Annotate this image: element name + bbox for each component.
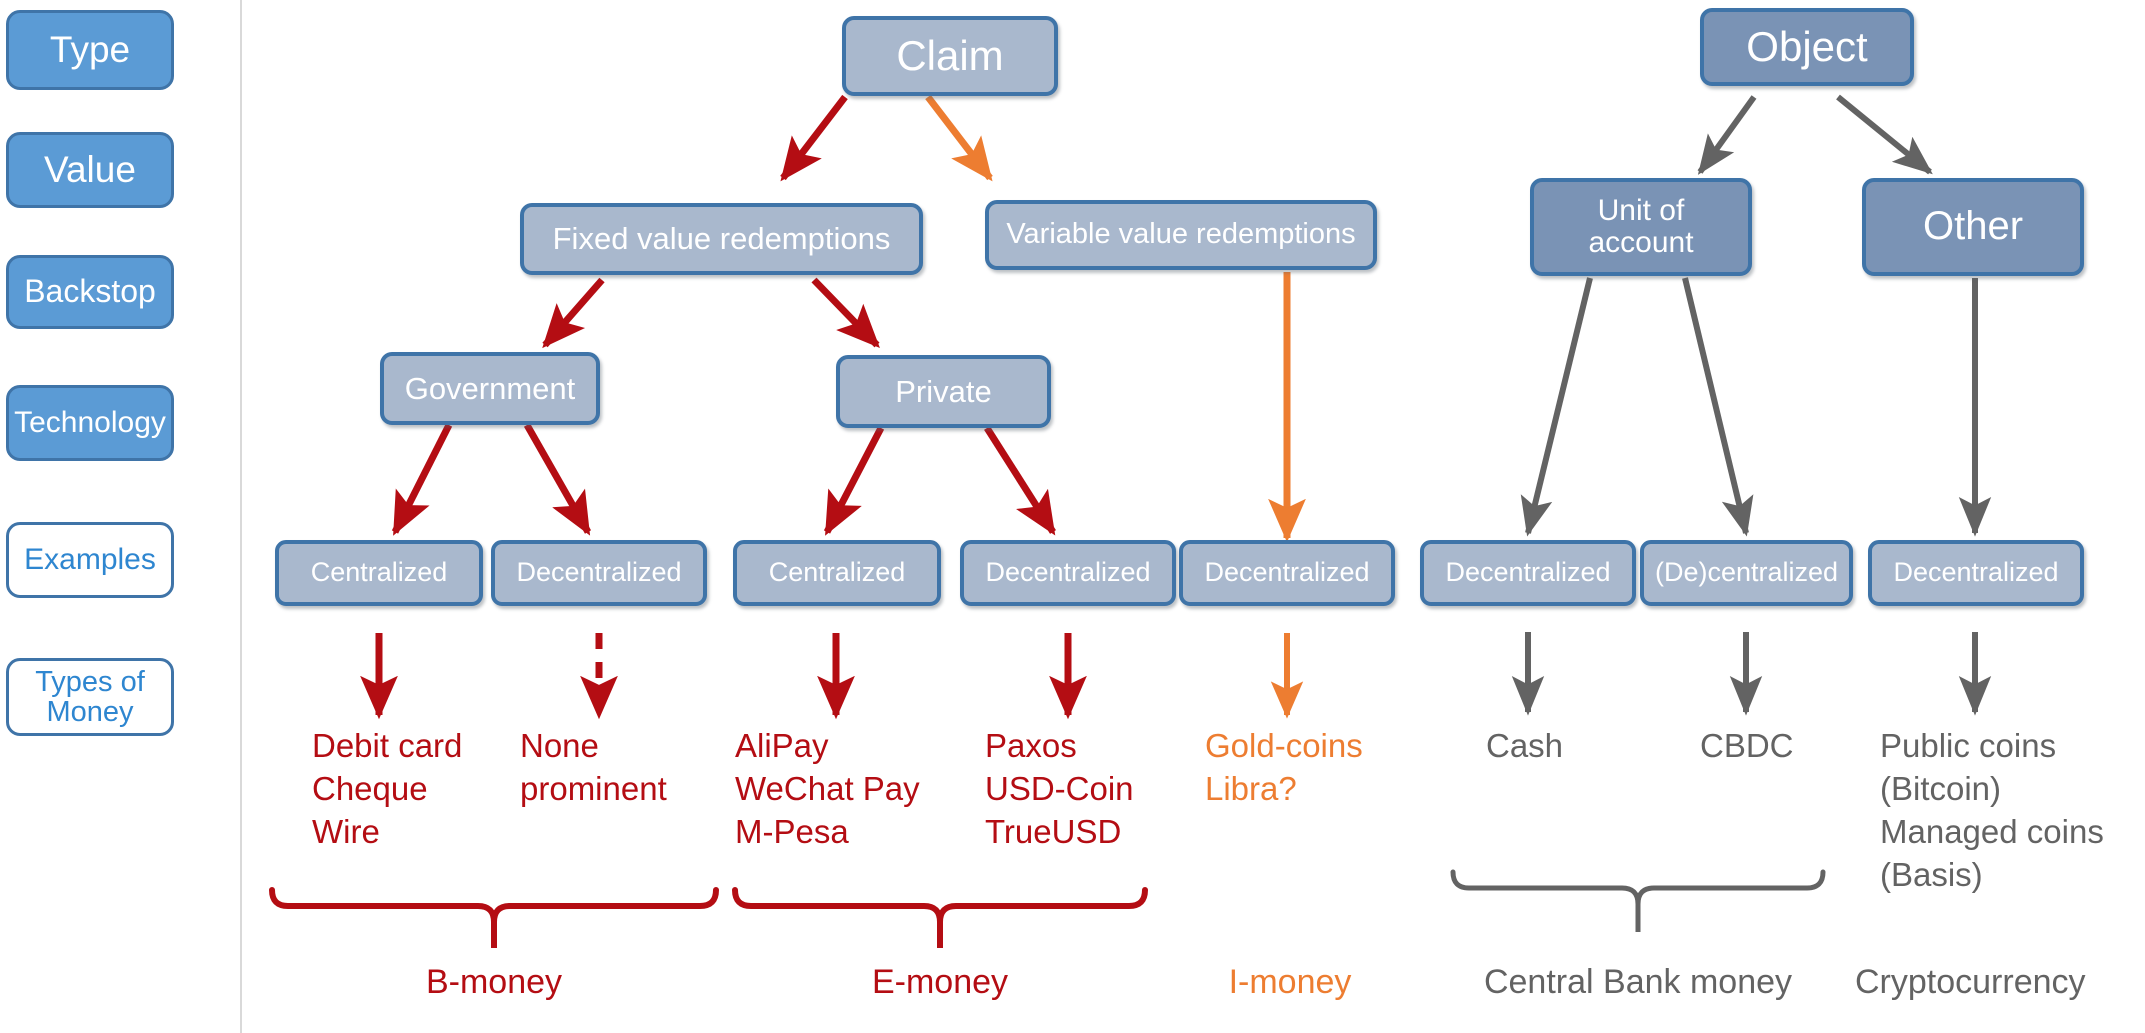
node-unit-of-account[interactable]: Unit of account [1530, 178, 1752, 276]
edge-private-to-decentralized [987, 428, 1053, 532]
examples-b-money-decentralized: None prominent [520, 725, 667, 811]
node-tech-decentralized-crypto[interactable]: Decentralized [1868, 540, 2084, 606]
examples-e-money-decentralized: Paxos USD-Coin TrueUSD [985, 725, 1134, 854]
money-type-e-money: E-money [855, 960, 1025, 1004]
node-government[interactable]: Government [380, 352, 600, 425]
money-type-cryptocurrency: Cryptocurrency [1855, 960, 2135, 1004]
edge-government-to-decentralized [527, 425, 588, 532]
edge-unit-to-decentralized [1528, 278, 1590, 533]
rail-item-backstop[interactable]: Backstop [6, 255, 174, 329]
money-type-central-bank-money: Central Bank money [1458, 960, 1818, 1004]
edge-government-to-centralized [395, 425, 449, 532]
node-tech-decentralized-paren-cbdc[interactable]: (De)centralized [1640, 540, 1853, 606]
brace-central-bank-money [1453, 872, 1823, 904]
node-object[interactable]: Object [1700, 8, 1914, 86]
node-tech-centralized-priv[interactable]: Centralized [733, 540, 941, 606]
node-other[interactable]: Other [1862, 178, 2084, 276]
rail-item-examples[interactable]: Examples [6, 522, 174, 598]
edge-claim-to-fixed [783, 97, 845, 178]
rail-item-value[interactable]: Value [6, 132, 174, 208]
examples-cryptocurrency: Public coins (Bitcoin) Managed coins (Ba… [1880, 725, 2104, 897]
edge-object-to-other [1838, 97, 1930, 172]
examples-cash: Cash [1486, 725, 1563, 768]
node-tech-decentralized-imoney[interactable]: Decentralized [1179, 540, 1395, 606]
examples-i-money: Gold-coins Libra? [1205, 725, 1363, 811]
edge-fixed-to-private [814, 280, 877, 345]
node-fixed-value-redemptions[interactable]: Fixed value redemptions [520, 203, 923, 275]
brace-b-money [272, 890, 716, 922]
edge-object-to-unit-of-account [1700, 97, 1754, 172]
connector-layer [0, 0, 2145, 1033]
rail-item-technology[interactable]: Technology [6, 385, 174, 461]
node-claim[interactable]: Claim [842, 16, 1058, 96]
examples-cbdc: CBDC [1700, 725, 1794, 768]
edge-claim-to-variable [928, 97, 990, 178]
node-variable-value-redemptions[interactable]: Variable value redemptions [985, 200, 1377, 270]
node-tech-decentralized-gov[interactable]: Decentralized [491, 540, 707, 606]
edge-private-to-centralized [827, 428, 881, 532]
brace-e-money [735, 890, 1145, 922]
rail-item-types-of-money[interactable]: Types of Money [6, 658, 174, 736]
diagram-canvas: Type Value Backstop Technology Examples … [0, 0, 2145, 1033]
edge-unit-to-decentralized-paren [1685, 278, 1746, 533]
rail-item-type[interactable]: Type [6, 10, 174, 90]
node-tech-decentralized-priv[interactable]: Decentralized [960, 540, 1176, 606]
rail-divider [240, 0, 242, 1033]
node-private[interactable]: Private [836, 355, 1051, 428]
node-tech-centralized-gov[interactable]: Centralized [275, 540, 483, 606]
edge-fixed-to-government [545, 280, 602, 345]
money-type-i-money: I-money [1210, 960, 1370, 1004]
node-tech-decentralized-cash[interactable]: Decentralized [1420, 540, 1636, 606]
money-type-b-money: B-money [409, 960, 579, 1004]
examples-b-money-centralized: Debit card Cheque Wire [312, 725, 462, 854]
examples-e-money-centralized: AliPay WeChat Pay M-Pesa [735, 725, 920, 854]
